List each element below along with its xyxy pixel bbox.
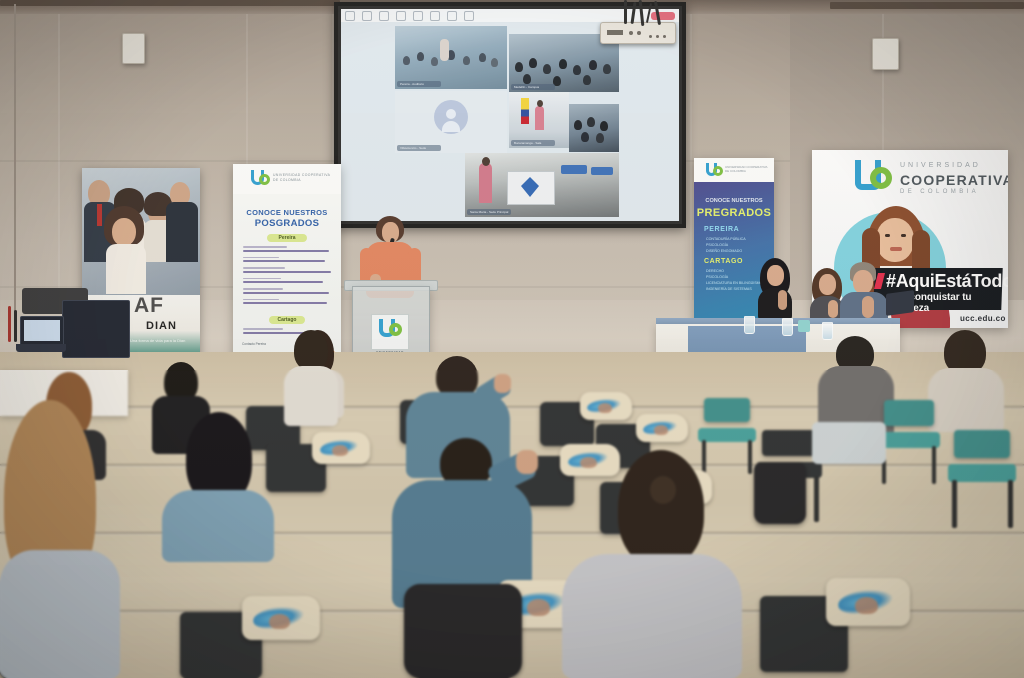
brand-universidad: UNIVERSIDAD xyxy=(900,162,981,169)
stacking-chair[interactable] xyxy=(946,430,1018,528)
tile-name-label: Santa Marta - Sede Principal xyxy=(467,209,511,215)
program-item: PSICOLOGÍA xyxy=(706,275,728,279)
share-screen-icon[interactable] xyxy=(447,11,457,21)
projector-cable xyxy=(624,0,627,24)
camera-icon[interactable] xyxy=(345,11,355,21)
participants-icon[interactable] xyxy=(379,11,389,21)
city-pill-pereira: Pereira xyxy=(267,234,307,242)
video-tile[interactable]: Santa Marta - Sede Principal xyxy=(465,153,619,217)
wall-speaker-right xyxy=(872,38,899,70)
conduit-pipe xyxy=(14,4,16,334)
program-item: CONTADURÍA PÚBLICA xyxy=(706,237,746,241)
avatar-tile[interactable]: Villavicencio - Sede xyxy=(395,91,507,153)
brand-cooperativa: COOPERATIVA xyxy=(900,172,1008,188)
tile-name-label: Villavicencio - Sede xyxy=(397,145,441,151)
banner-url: ucc.edu.co xyxy=(960,314,1006,323)
banner-eyebrow: CONOCE NUESTROS xyxy=(694,198,774,204)
city-heading-cartago: CARTAGO xyxy=(704,258,743,265)
avatar xyxy=(434,100,468,134)
apps-icon[interactable] xyxy=(413,11,423,21)
hashtag-text: #AquiEstáTodo xyxy=(886,271,1008,292)
ceiling-beam xyxy=(830,2,1024,9)
ucc-logo xyxy=(251,170,269,187)
city-heading-pereira: PEREIRA xyxy=(704,226,739,233)
program-item: DERECHO xyxy=(706,269,724,273)
water-glass xyxy=(782,318,793,336)
program-item: PSICOLOGÍA xyxy=(706,243,728,247)
podium-ucc-logo xyxy=(371,314,409,350)
banner-eyebrow: CONOCE NUESTROS xyxy=(233,208,341,217)
laptop-closed[interactable] xyxy=(62,300,130,358)
ceiling-projector xyxy=(600,22,676,44)
audience-member xyxy=(404,584,534,678)
poster-tagline: Una forma de vida para la Dian xyxy=(130,338,196,344)
tablet-arm-chair[interactable] xyxy=(266,432,370,492)
av-cable xyxy=(14,310,17,342)
poster-photo xyxy=(82,168,200,295)
ucc-logo xyxy=(706,163,722,178)
teal-cup xyxy=(798,320,810,332)
banner-title: POSGRADOS xyxy=(233,218,341,229)
raise-hand-icon[interactable] xyxy=(464,11,474,21)
sweater-on-chair xyxy=(812,422,886,464)
backpack xyxy=(754,462,806,524)
tile-name-label: Medellín - Campus xyxy=(511,84,555,90)
program-item: INGENIERÍA DE SISTEMAS xyxy=(706,287,752,291)
audience-member xyxy=(562,450,742,678)
banner-title: PREGRADOS xyxy=(694,207,774,219)
banner-brand-text: UNIVERSIDAD COOPERATIVA DE COLOMBIA xyxy=(725,165,769,174)
poster-org-label: DIAN xyxy=(146,320,177,332)
audience-member xyxy=(0,400,120,678)
ucc-logo xyxy=(855,160,891,194)
program-list-pereira xyxy=(243,246,333,304)
city-pill-cartago: Cartago xyxy=(269,316,305,324)
laptop-open-screen[interactable] xyxy=(20,316,64,346)
video-conference-toolbar[interactable] xyxy=(341,9,679,22)
leave-meeting-button[interactable] xyxy=(651,12,675,20)
poster-af-heading: AF xyxy=(134,294,164,318)
contact-label-pereira: Contacto Pereira xyxy=(242,342,266,346)
panelist-1 xyxy=(752,258,798,320)
video-tile[interactable] xyxy=(569,104,619,152)
laptop-open-base[interactable] xyxy=(16,344,66,352)
video-tile[interactable]: Pereira - Auditorio xyxy=(395,26,507,89)
program-item: DISEÑO ENGOMADO xyxy=(706,249,742,253)
tablet-arm-chair[interactable] xyxy=(760,578,910,672)
chat-icon[interactable] xyxy=(362,11,372,21)
audience-member xyxy=(284,330,338,426)
tile-name-label: Bucaramanga - Sala xyxy=(511,140,555,146)
wall-speaker-left xyxy=(122,33,145,64)
reactions-icon[interactable] xyxy=(396,11,406,21)
av-cable xyxy=(8,306,11,342)
ceiling-beam-left xyxy=(0,0,340,6)
audience-member xyxy=(160,412,276,562)
brand-de-colombia: DE COLOMBIA xyxy=(900,189,979,195)
more-icon[interactable] xyxy=(430,11,440,21)
tablet-arm-chair[interactable] xyxy=(180,596,320,678)
auditorium-photo: Pereira - Auditorio Medellín - Campus xyxy=(0,0,1024,678)
tile-name-label: Pereira - Auditorio xyxy=(397,81,441,87)
video-tile[interactable]: Bucaramanga - Sala xyxy=(509,92,569,148)
banner-brand-text: UNIVERSIDAD COOPERATIVA DE COLOMBIA xyxy=(273,173,335,183)
water-glass xyxy=(744,316,755,334)
